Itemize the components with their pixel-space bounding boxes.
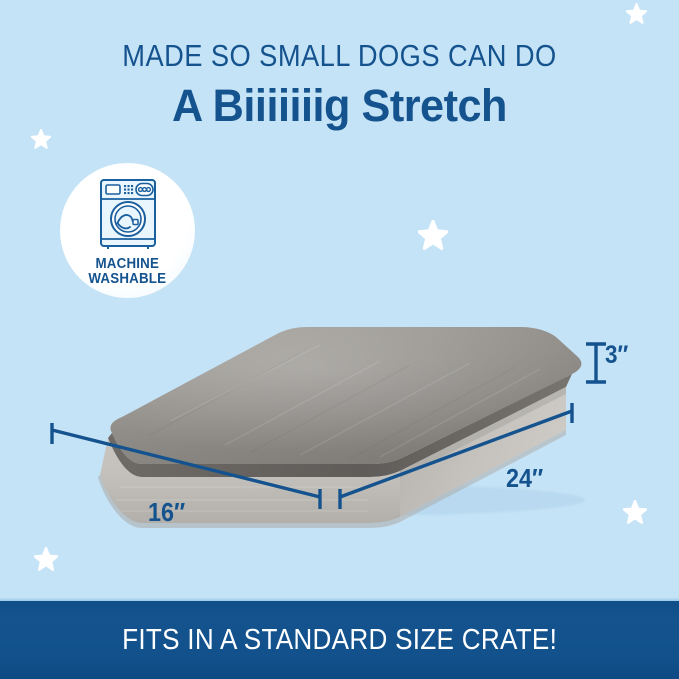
- bottom-banner: FITS IN A STANDARD SIZE CRATE!: [0, 601, 679, 679]
- dimension-line-16: [52, 430, 320, 497]
- infographic-canvas: MADE SO SMALL DOGS CAN DO A Biiiiiiig St…: [0, 0, 679, 679]
- dimension-label-length: 24″: [506, 463, 543, 494]
- dimension-lines-overlay: [0, 0, 679, 679]
- dimension-label-width: 16″: [148, 497, 185, 528]
- dimension-label-height: 3″: [605, 341, 628, 370]
- bottom-banner-text: FITS IN A STANDARD SIZE CRATE!: [122, 624, 557, 657]
